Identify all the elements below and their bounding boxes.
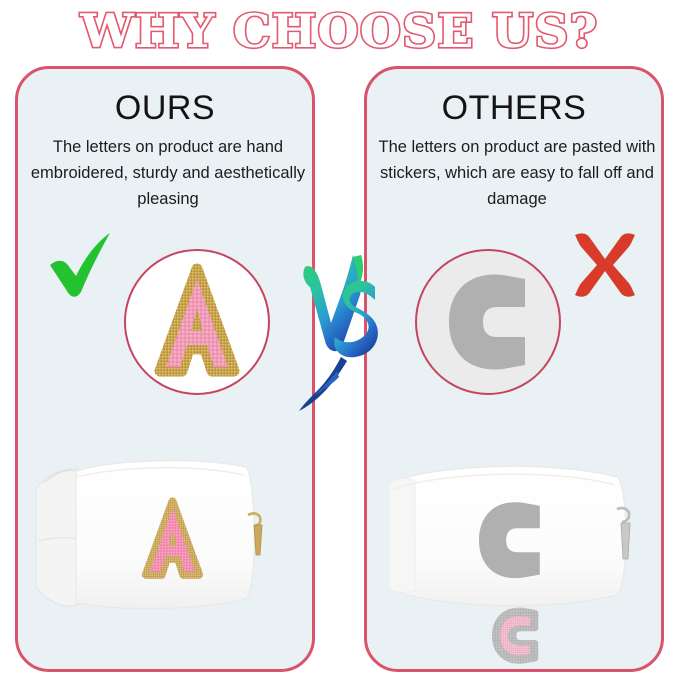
panel-others: OTHERS The letters on product are pasted… <box>364 66 664 672</box>
versus-badge <box>297 245 382 415</box>
panel-description-ours: The letters on product are hand embroide… <box>29 134 307 212</box>
fallen-patch-c <box>495 611 535 660</box>
patch-circle-ours <box>124 249 270 395</box>
page-title: WHY CHOOSE US? <box>81 8 599 54</box>
panel-description-others: The letters on product are pasted with s… <box>378 134 656 212</box>
product-image-ours <box>18 437 312 672</box>
panel-ours: OURS The letters on product are hand emb… <box>15 66 315 672</box>
sticker-letter-c-icon <box>429 263 547 381</box>
green-check-icon <box>46 229 118 301</box>
red-cross-icon <box>569 229 641 301</box>
title-bar: WHY CHOOSE US? <box>0 0 679 62</box>
product-image-others <box>367 437 661 672</box>
chenille-letter-a-icon <box>138 263 256 381</box>
patch-circle-others <box>415 249 561 395</box>
panel-title-others: OTHERS <box>367 89 661 128</box>
panel-title-ours: OURS <box>18 89 312 128</box>
